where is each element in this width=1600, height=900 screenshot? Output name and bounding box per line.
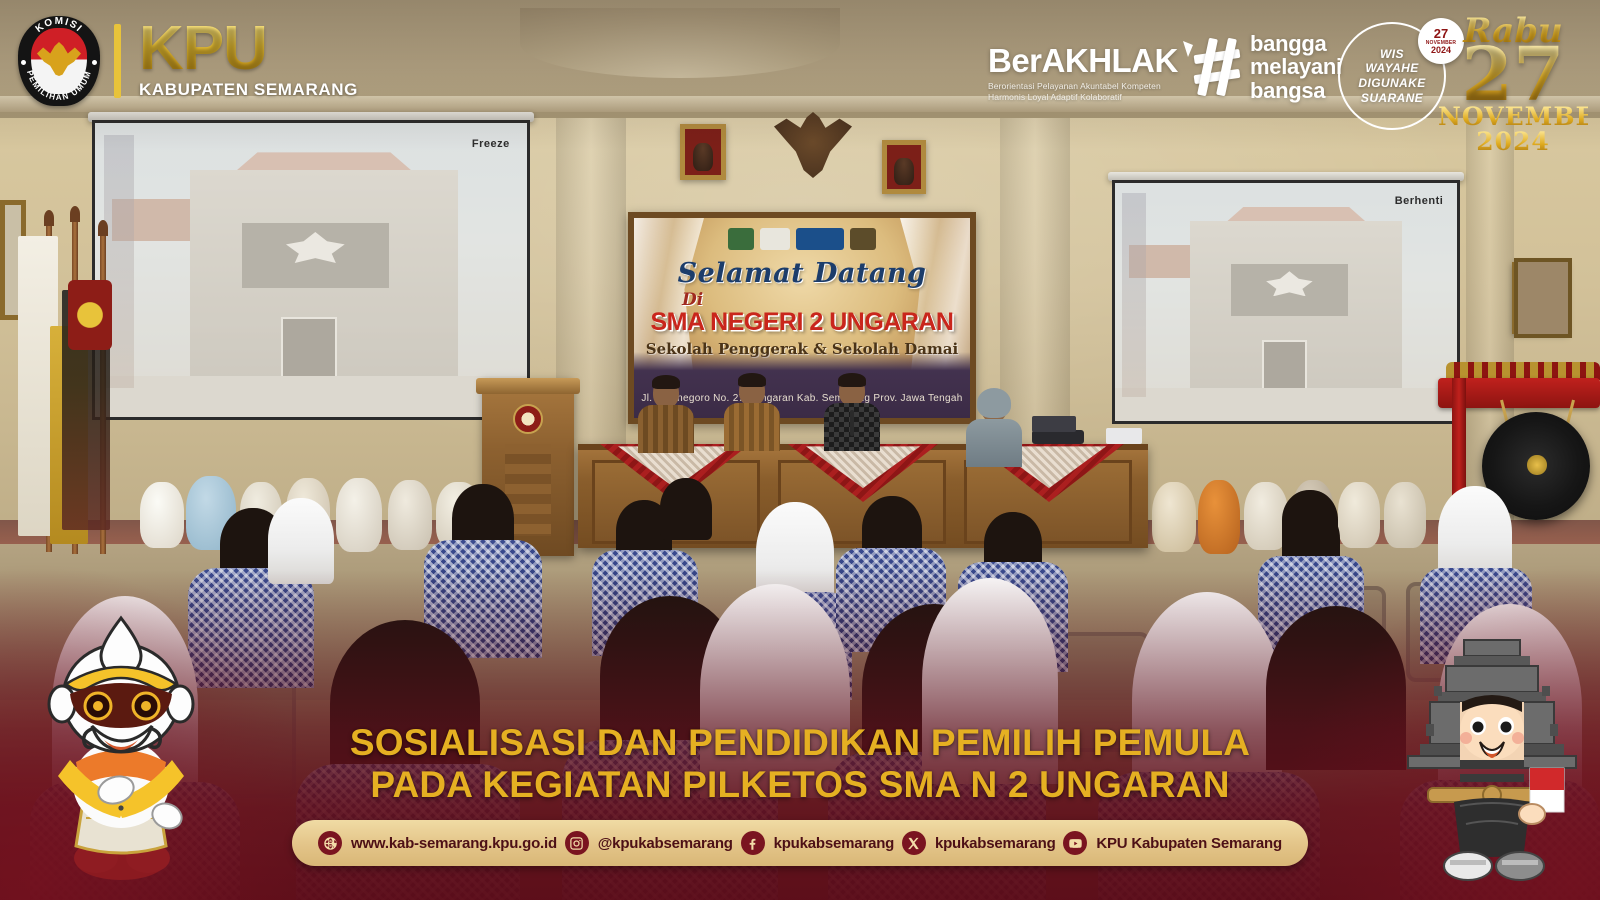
social-label-website: www.kab-semarang.kpu.go.id [351,835,557,852]
kpu-logo-lockup: KOMISI PEMILIHAN UMUM KPU KABUPATEN SEMA… [18,16,358,106]
poster-canvas: Freeze Berhenti Selamat [0,0,1600,900]
projection-washout [95,123,527,417]
projector-screen-right: Berhenti [1112,180,1460,424]
slogan-line3: DIGUNAKE [1358,76,1425,91]
projection-washout [1115,183,1457,421]
audience-student [1282,490,1338,552]
berakhlak-title: BerAKHLAK [988,44,1178,77]
decorative-vase [1152,482,1196,552]
berakhlak-subtitle-line2: Harmonis Loyal Adaptif Kolaboratif [988,92,1178,103]
date-year: 2024 [1438,129,1588,154]
logo-divider-bar [114,24,121,98]
podium-school-seal [513,404,543,434]
papers-on-table [1106,428,1142,444]
hashtag-icon [1192,38,1242,96]
slogan-line2: WAYAHE [1358,61,1425,76]
flag-school-crest [68,280,112,350]
date-month: NOVEMBER [1438,105,1588,129]
decorative-vase [1198,480,1240,554]
welcome-backdrop-banner: Selamat Datang Di SMA NEGERI 2 UNGARAN S… [628,212,976,424]
instagram-icon [565,831,589,855]
projector-screen-left: Freeze [92,120,530,420]
handheld-microphone [850,410,854,436]
social-media-bar: www.kab-semarang.kpu.go.id @kpukabsemara… [292,820,1308,866]
headline-line-1: SOSIALISASI DAN PENDIDIKAN PEMILIH PEMUL… [0,722,1600,764]
backdrop-address: Jl. Diponegoro No. 277 Ungaran Kab. Sema… [634,393,970,404]
svg-text:KOMISI: KOMISI [34,16,85,35]
berakhlak-subtitle: Berorientasi Pelayanan Akuntabel Kompete… [988,81,1178,104]
backdrop-logo-jateng [728,228,754,250]
panelist-outfit [966,419,1022,467]
campaign-line2: melayani [1250,55,1342,78]
flag-finial-2 [70,206,80,222]
berakhlak-logo: BerAKHLAK Berorientasi Pelayanan Akuntab… [988,44,1178,104]
candi-temple-mascot [1398,628,1586,886]
panelist-batik-shirt [724,403,780,451]
campaign-line3: bangsa [1250,79,1342,102]
decorative-vase [1338,482,1380,548]
flag-finial-1 [44,210,54,226]
bangga-melayani-bangsa-text: bangga melayani bangsa [1250,32,1342,102]
laptop-screen [1032,416,1076,432]
kpu-emblem-icon: KOMISI PEMILIHAN UMUM [18,16,100,106]
social-item-youtube[interactable]: KPU Kabupaten Semarang [1063,831,1282,855]
panelist-hair [652,375,680,389]
podium-top [476,378,580,394]
emblem-ring-text: KOMISI PEMILIHAN UMUM [18,16,100,106]
bangga-melayani-bangsa-logo: bangga melayani bangsa [1192,32,1342,102]
panelist-batik-shirt [638,405,694,453]
audience-student [660,478,712,540]
slogan-line1: WIS [1358,47,1425,62]
panelist-hair [738,373,766,387]
facebook-icon [741,831,765,855]
globe-icon [318,831,342,855]
berakhlak-title-text: BerAKHLAK [988,42,1178,79]
headline-line-2: PADA KEGIATAN PILKETOS SMA N 2 UNGARAN [0,764,1600,806]
decorative-vase [388,480,432,550]
wall-frame-right-edge [1514,258,1572,338]
kpu-abbreviation: KPU [139,22,358,75]
kpu-wordmark: KPU KABUPATEN SEMARANG [139,22,358,99]
svg-text:PEMILIHAN UMUM: PEMILIHAN UMUM [25,69,93,102]
social-item-instagram[interactable]: @kpukabsemarang [565,831,733,855]
backdrop-logo-sekolah-penggerak [796,228,844,250]
laptop-on-table [1032,430,1084,444]
event-headline: SOSIALISASI DAN PENDIDIKAN PEMILIH PEMUL… [0,722,1600,806]
social-label-instagram: @kpukabsemarang [598,835,733,852]
punakawan-mascot [36,612,206,884]
decorative-vase [336,478,382,552]
flag-finial-3 [98,220,108,236]
panelist-hair [838,373,866,387]
social-item-website[interactable]: www.kab-semarang.kpu.go.id [318,831,557,855]
backdrop-logo-kemdikbud [760,228,790,250]
berakhlak-subtitle-line1: Berorientasi Pelayanan Akuntabel Kompete… [988,81,1178,92]
backdrop-logo-school [850,228,876,250]
backdrop-logo-row [728,228,876,250]
backdrop-school-name: SMA NEGERI 2 UNGARAN [634,308,970,337]
social-item-x[interactable]: kpukabsemarang [902,831,1056,855]
social-label-facebook: kpukabsemarang [774,835,895,852]
projector-status-label-right: Berhenti [1395,195,1444,207]
date-display: Rabu 27 NOVEMBER 2024 [1438,16,1588,154]
backdrop-di-text: Di [682,290,703,310]
slogan-circle-text: WIS WAYAHE DIGUNAKE SUARANE [1358,47,1425,106]
social-item-facebook[interactable]: kpukabsemarang [741,831,895,855]
social-label-x: kpukabsemarang [935,835,1056,852]
x-twitter-icon [902,831,926,855]
date-day-number: 27 [1438,45,1588,106]
backdrop-welcome-text: Selamat Datang [634,258,970,289]
youtube-icon [1063,831,1087,855]
decorative-vase [140,482,184,548]
social-label-youtube: KPU Kabupaten Semarang [1096,835,1282,852]
panelist-hijab [977,388,1011,418]
slogan-line4: SUARANE [1358,91,1425,106]
kpu-region-label: KABUPATEN SEMARANG [139,80,358,100]
decorative-vase [1384,482,1426,548]
campaign-line1: bangga [1250,32,1342,55]
